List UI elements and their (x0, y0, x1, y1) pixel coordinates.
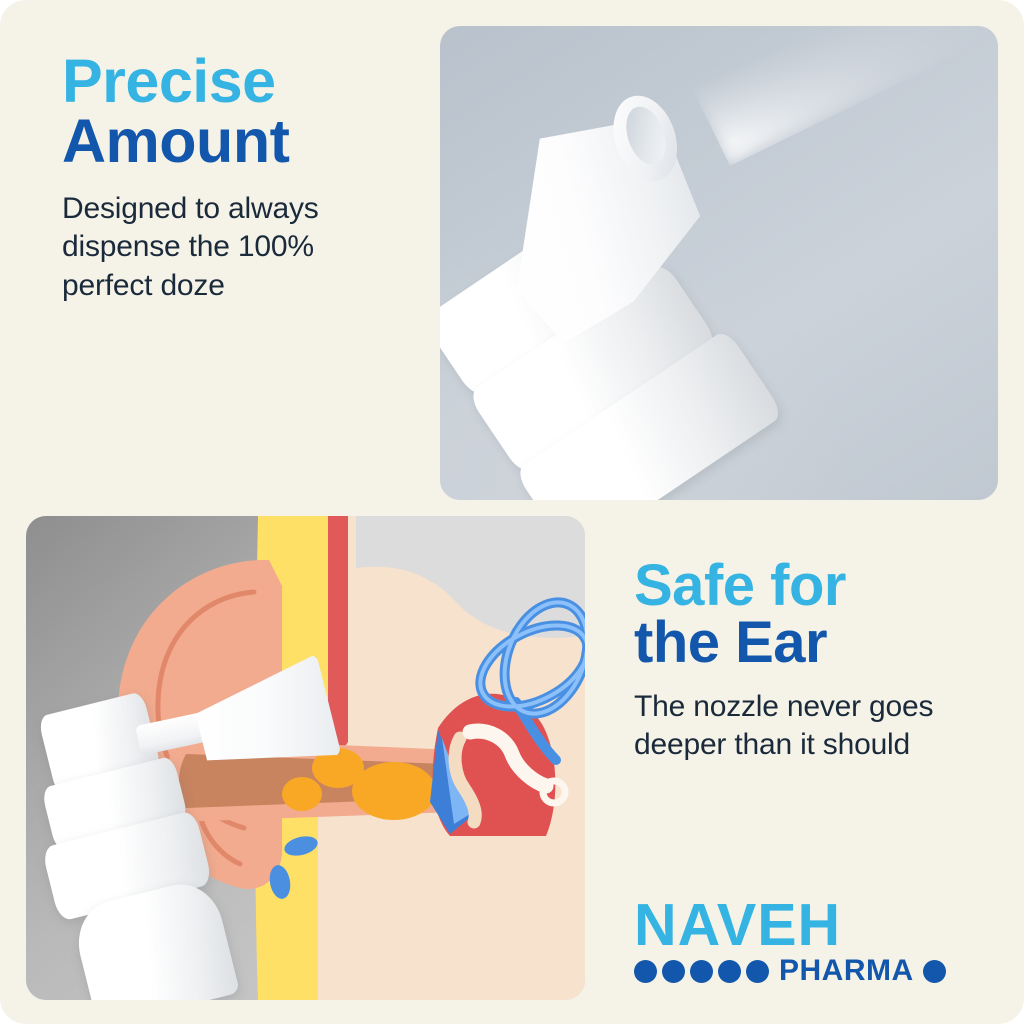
ear-cross-section-svg (26, 516, 585, 1000)
logo-dot-icon (923, 960, 946, 983)
feature-body-precise-amount: Designed to always dispense the 100% per… (62, 190, 412, 306)
brand-sub-name: PHARMA (779, 956, 914, 986)
ear-anatomy-diagram (26, 516, 585, 1000)
earwax-blob (352, 762, 436, 820)
brand-logo-row: PHARMA (634, 956, 934, 986)
logo-dot-icon (746, 960, 769, 983)
headline-line-1: Safe for (634, 558, 974, 615)
earwax-blob (282, 777, 322, 811)
logo-dot-icon (662, 960, 685, 983)
brand-logo: NAVEH PHARMA (634, 898, 934, 986)
headline-line-2: the Ear (634, 615, 974, 672)
spray-mist (684, 26, 998, 166)
page-title-precise-amount: Precise Amount (62, 52, 412, 172)
headline-line-1: Precise (62, 52, 412, 112)
brand-name: NAVEH (634, 898, 934, 952)
feature-block-precise-amount: Precise Amount Designed to always dispen… (62, 52, 412, 306)
logo-dot-icon (634, 960, 657, 983)
headline-line-2: Amount (62, 112, 412, 172)
feature-block-safe-for-the-ear: Safe for the Ear The nozzle never goes d… (634, 558, 974, 765)
infographic-canvas: Precise Amount Designed to always dispen… (0, 0, 1024, 1024)
spray-nozzle-photo (440, 26, 998, 500)
logo-dot-icon (690, 960, 713, 983)
logo-dot-icon (718, 960, 741, 983)
feature-body-safe-for-the-ear: The nozzle never goes deeper than it sho… (634, 688, 974, 765)
page-title-safe-for-the-ear: Safe for the Ear (634, 558, 974, 672)
